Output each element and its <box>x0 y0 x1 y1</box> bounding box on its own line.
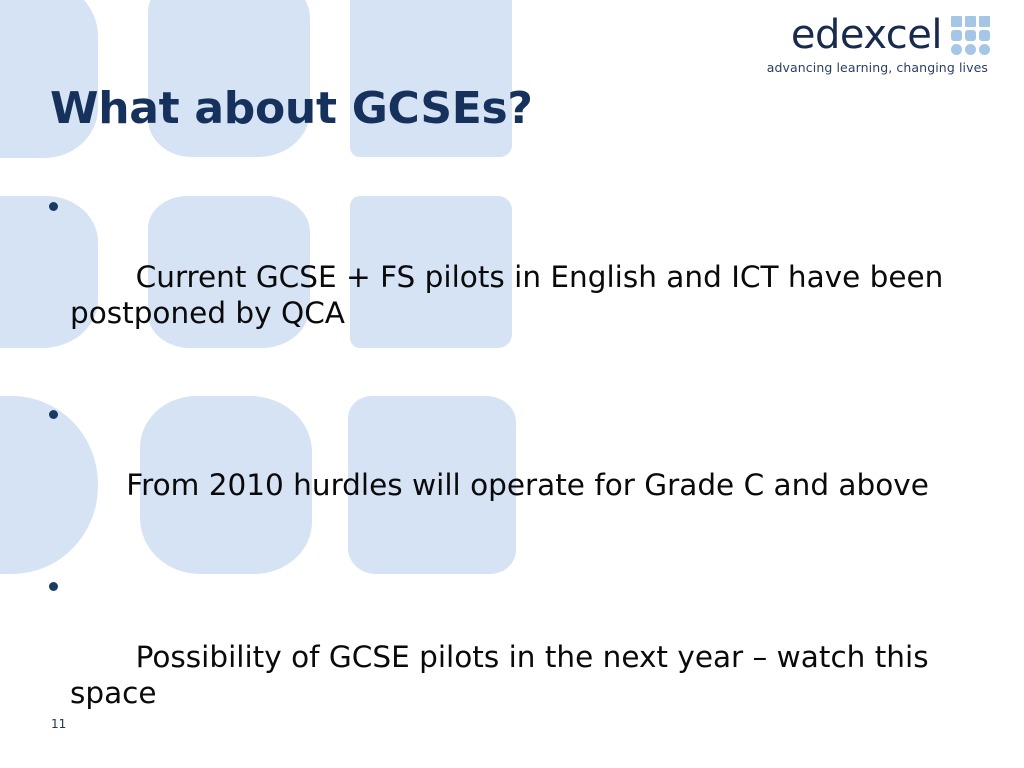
slide: edexcel advancing learning, changing liv… <box>0 0 1024 768</box>
page-title: What about GCSEs? <box>50 83 533 134</box>
list-item: Possibility of GCSE pilots in the next y… <box>40 568 980 748</box>
bullet-list: Current GCSE + FS pilots in English and … <box>40 188 980 748</box>
logo-tagline: advancing learning, changing lives <box>767 60 988 75</box>
logo-dots-icon <box>951 16 990 55</box>
list-item: Current GCSE + FS pilots in English and … <box>40 188 980 368</box>
logo-row: edexcel <box>791 14 990 55</box>
bullet-dot-icon <box>49 202 58 211</box>
list-item-label: Possibility of GCSE pilots in the next y… <box>70 640 938 710</box>
logo-wordmark: edexcel <box>791 15 942 55</box>
page-number: 11 <box>51 717 66 731</box>
edexcel-logo: edexcel advancing learning, changing liv… <box>767 14 990 75</box>
bullet-dot-icon <box>49 582 58 591</box>
decor-blob <box>0 0 98 158</box>
list-item-label: From 2010 hurdles will operate for Grade… <box>126 468 929 502</box>
list-item-label: Current GCSE + FS pilots in English and … <box>70 260 953 330</box>
list-item: From 2010 hurdles will operate for Grade… <box>40 396 980 540</box>
bullet-dot-icon <box>49 410 58 419</box>
